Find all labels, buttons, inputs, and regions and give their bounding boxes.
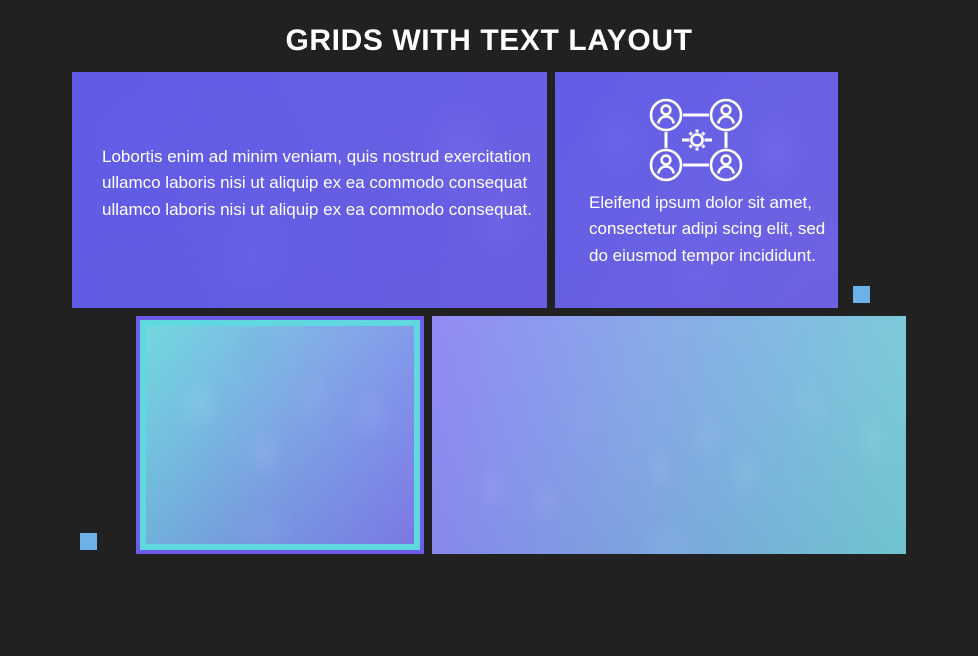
panel-color-overlay [146,326,414,544]
page-title: GRIDS WITH TEXT LAYOUT [0,24,978,57]
photo-panel-team[interactable] [136,316,424,554]
slide-canvas: GRIDS WITH TEXT LAYOUT Lobortis enim ad … [0,0,978,656]
team-network-gear-icon [649,98,745,182]
accent-square-left [80,533,97,550]
text-panel-body: Lobortis enim ad minim veniam, quis nost… [102,144,532,223]
text-panel[interactable]: Lobortis enim ad minim veniam, quis nost… [72,72,547,308]
icon-text-panel[interactable]: Eleifend ipsum dolor sit amet, consectet… [555,72,838,308]
photo-inner [146,326,414,544]
panel-color-overlay [432,316,906,554]
icon-panel-body: Eleifend ipsum dolor sit amet, consectet… [589,190,827,269]
photo-panel-meeting[interactable] [432,316,906,554]
accent-square-right [853,286,870,303]
bottom-toolbar: 10 /13 [0,600,978,656]
